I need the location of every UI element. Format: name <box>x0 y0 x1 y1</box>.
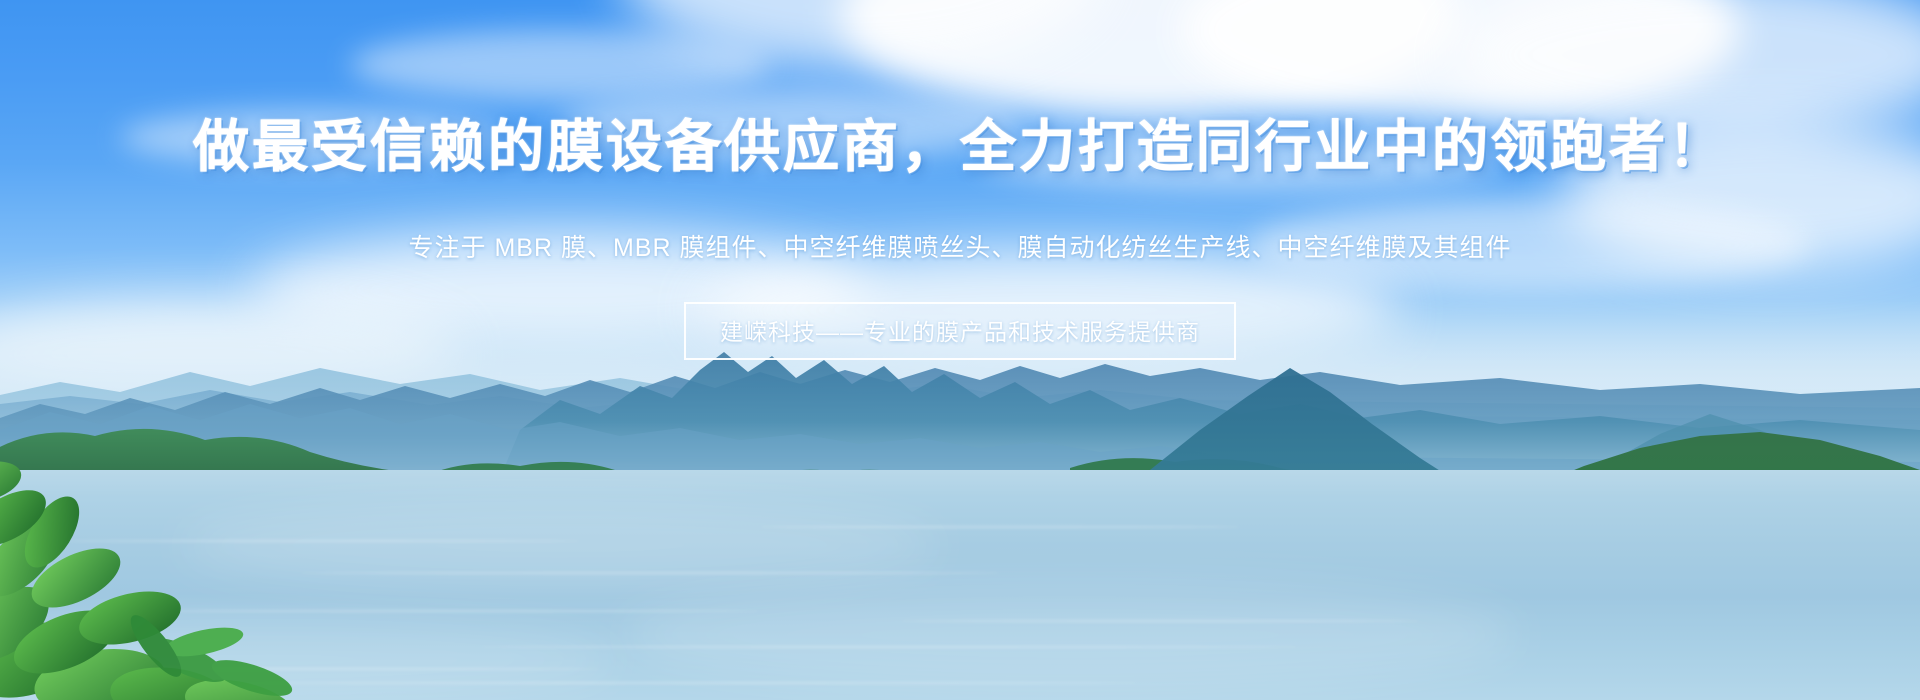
water-ripple <box>240 682 1140 684</box>
water-ripple <box>760 526 1240 528</box>
foreground-foliage <box>0 410 320 700</box>
tagline-box: 建嵘科技——专业的膜产品和技术服务提供商 <box>684 302 1236 360</box>
tagline-container: 建嵘科技——专业的膜产品和技术服务提供商 <box>0 302 1920 360</box>
hero-banner: 做最受信赖的膜设备供应商，全力打造同行业中的领跑者！ 专注于 MBR 膜、MBR… <box>0 0 1920 700</box>
water-ripple <box>900 620 1420 622</box>
water-ripple <box>300 572 1000 574</box>
water-ripple <box>480 646 1300 648</box>
banner-headline: 做最受信赖的膜设备供应商，全力打造同行业中的领跑者！ <box>0 118 1920 177</box>
banner-subtitle: 专注于 MBR 膜、MBR 膜组件、中空纤维膜喷丝头、膜自动化纺丝生产线、中空纤… <box>0 228 1920 264</box>
water-sheen <box>620 580 1520 690</box>
